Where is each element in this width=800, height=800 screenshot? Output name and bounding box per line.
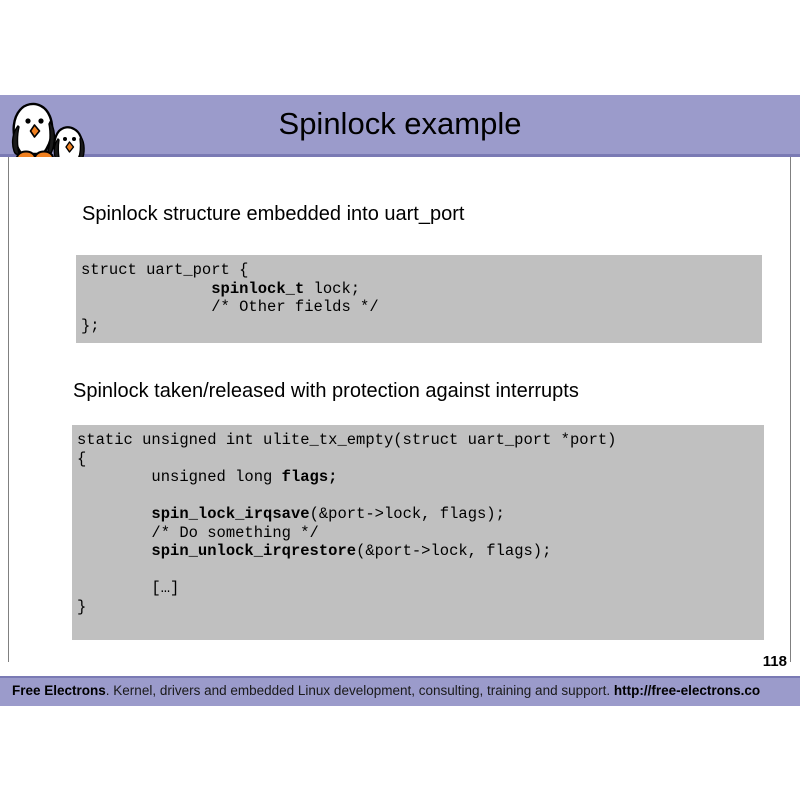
- page-number: 118: [763, 653, 787, 670]
- code-line: […]: [77, 579, 764, 598]
- code-token: lock;: [304, 280, 360, 298]
- bullet-text-taken-released: Spinlock taken/released with protection …: [73, 380, 579, 403]
- code-line: [77, 487, 764, 506]
- footer-brand: Free Electrons: [12, 683, 106, 698]
- code-line: /* Do something */: [77, 524, 764, 543]
- code-token: [77, 542, 151, 560]
- code-line: }: [77, 598, 764, 617]
- code-line: {: [77, 450, 764, 469]
- code-token-bold: spin_lock_irqsave: [151, 505, 309, 523]
- code-line: [77, 561, 764, 580]
- code-token: […]: [77, 579, 179, 597]
- code-line: /* Other fields */: [81, 298, 762, 317]
- code-token: (&port->lock, flags);: [310, 505, 505, 523]
- code-line: };: [81, 317, 762, 336]
- code-token: unsigned long: [77, 468, 282, 486]
- code-token: (&port->lock, flags);: [356, 542, 551, 560]
- footer-credit: Free Electrons. Kernel, drivers and embe…: [12, 683, 760, 698]
- code-block-uart-port-struct: struct uart_port { spinlock_t lock; /* O…: [76, 255, 762, 343]
- code-line: unsigned long flags;: [77, 468, 764, 487]
- footer-tagline: . Kernel, drivers and embedded Linux dev…: [106, 683, 614, 698]
- code-token-bold: spin_unlock_irqrestore: [151, 542, 356, 560]
- code-token: /* Do something */: [77, 524, 319, 542]
- code-line: spinlock_t lock;: [81, 280, 762, 299]
- code-token: {: [77, 450, 86, 468]
- code-token: /* Other fields */: [81, 298, 379, 316]
- code-token: [77, 505, 151, 523]
- footer-url[interactable]: http://free-electrons.co: [614, 683, 760, 698]
- code-token-bold: spinlock_t: [211, 280, 304, 298]
- code-token: };: [81, 317, 100, 335]
- code-token: static unsigned int ulite_tx_empty(struc…: [77, 431, 617, 449]
- slide-footer-band: Free Electrons. Kernel, drivers and embe…: [0, 676, 800, 706]
- code-block-ulite-tx-empty: static unsigned int ulite_tx_empty(struc…: [72, 425, 764, 640]
- code-token: }: [77, 598, 86, 616]
- code-token-bold: flags;: [282, 468, 338, 486]
- code-line: spin_lock_irqsave(&port->lock, flags);: [77, 505, 764, 524]
- bullet-text-structure: Spinlock structure embedded into uart_po…: [82, 203, 464, 226]
- code-line: struct uart_port {: [81, 261, 762, 280]
- code-token: struct uart_port {: [81, 261, 248, 279]
- big-penguin-icon: [13, 104, 55, 165]
- code-line: static unsigned int ulite_tx_empty(struc…: [77, 431, 764, 450]
- code-token: [81, 280, 211, 298]
- code-line: spin_unlock_irqrestore(&port->lock, flag…: [77, 542, 764, 561]
- slide-canvas: Spinlock example: [0, 0, 800, 800]
- page-title: Spinlock example: [0, 95, 800, 153]
